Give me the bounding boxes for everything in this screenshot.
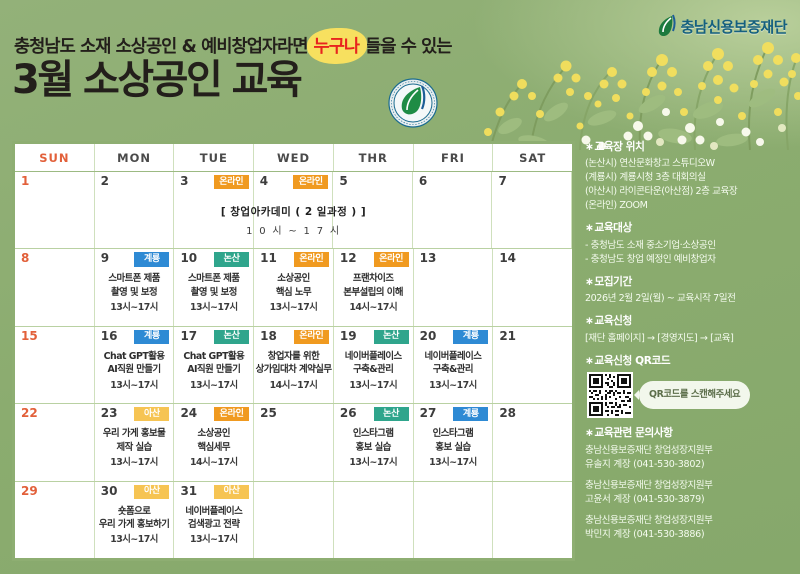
day-number: 29 xyxy=(21,484,38,498)
spanning-event-entry: [ 창업아카데미 ( 2 일과정 ) ]1 0 시 ~ 1 7 시 xyxy=(15,200,572,237)
calendar-day-26[interactable]: 26논산인스타그램홍보 실습13시~17시 xyxy=(334,404,414,480)
day-number: 22 xyxy=(21,406,38,420)
event-time: 13시~17시 xyxy=(335,456,412,469)
sidebar-section-qr: 교육신청 QR코드 xyxy=(585,354,797,418)
calendar-day-13: 13 xyxy=(414,249,494,325)
day-number: 18 xyxy=(260,329,277,343)
day-number: 7 xyxy=(498,174,506,188)
venue-badge-asan: 아산 xyxy=(134,407,169,421)
headline-line1: 충청남도 소재 소상공인 & 예비창업자라면 누구나 들을 수 있는 xyxy=(14,33,452,58)
headline-part2: 들을 수 있는 xyxy=(365,33,451,58)
qr-code-icon[interactable] xyxy=(587,372,633,418)
venue-badge-asan: 아산 xyxy=(134,485,169,499)
event-time: 13시~17시 xyxy=(175,379,252,392)
calendar-day-empty xyxy=(334,482,414,558)
location-title: 교육장 위치 xyxy=(585,140,797,155)
leaf-logo-icon xyxy=(655,14,677,38)
period-title: 모집기간 xyxy=(585,275,797,290)
day-number: 5 xyxy=(339,174,347,188)
event-entry: 인스타그램홍보 실습13시~17시 xyxy=(335,427,412,469)
apply-line: [재단 홈페이지] → [경영지도] → [교육] xyxy=(585,332,797,346)
contact-org: 충남신용보증재단 창업성장지원부 xyxy=(585,479,797,493)
venue-badge-asan: 아산 xyxy=(214,485,249,499)
calendar-day-empty xyxy=(254,482,334,558)
event-entry: 우리 가게 홍보물제작 실습13시~17시 xyxy=(96,427,173,469)
location-line: (계룡시) 계룡시청 3층 대회의실 xyxy=(585,171,797,185)
calendar-day-29: 29 xyxy=(15,482,95,558)
event-entry: 숏폼으로우리 가게 홍보하기13시~17시 xyxy=(96,505,173,547)
contact-person-phone: 유솔지 계장 (041-530-3802) xyxy=(585,458,797,472)
calendar-day-27[interactable]: 27계룡인스타그램홍보 실습13시~17시 xyxy=(414,404,494,480)
event-entry: 프랜차이즈본부설립의 이해14시~17시 xyxy=(335,272,412,314)
day-number: 24 xyxy=(180,406,197,420)
venue-badge-online: 온라인 xyxy=(294,330,329,344)
calendar-week-row: 1516계룡Chat GPT활용AI직원 만들기13시~17시17논산Chat … xyxy=(15,327,572,404)
event-entry: 네이버플레이스검색광고 전략13시~17시 xyxy=(175,505,252,547)
venue-badge-gyeryong: 계룡 xyxy=(453,407,488,421)
calendar-day-empty xyxy=(493,482,572,558)
event-time: 13시~17시 xyxy=(96,301,173,314)
day-number: 27 xyxy=(420,406,437,420)
event-time: 13시~17시 xyxy=(96,456,173,469)
event-time: 13시~17시 xyxy=(415,456,492,469)
apply-title: 교육신청 xyxy=(585,314,797,329)
venue-badge-online: 온라인 xyxy=(214,175,249,189)
calendar-day-19[interactable]: 19논산네이버플레이스구축&관리13시~17시 xyxy=(334,327,414,403)
event-time: 14시~17시 xyxy=(335,301,412,314)
day-number: 3 xyxy=(180,174,188,188)
calendar-day-20[interactable]: 20계룡네이버플레이스구축&관리13시~17시 xyxy=(414,327,494,403)
event-entry: Chat GPT활용AI직원 만들기13시~17시 xyxy=(96,350,173,392)
event-entry: 창업자를 위한상가임대차 계약실무14시~17시 xyxy=(255,350,332,392)
location-line: (논산시) 연산문화창고 스튜디오W xyxy=(585,157,797,171)
calendar-day-12[interactable]: 12온라인프랜차이즈본부설립의 이해14시~17시 xyxy=(334,249,414,325)
sidebar-section-location: 교육장 위치 (논산시) 연산문화창고 스튜디오W(계룡시) 계룡시청 3층 대… xyxy=(585,140,797,213)
period-line: 2026년 2월 2일(월) ~ 교육시작 7일전 xyxy=(585,292,797,306)
day-number: 2 xyxy=(101,174,109,188)
poster-root: 충남신용보증재단 충청남도 소재 소상공인 & 예비창업자라면 누구나 들을 수… xyxy=(0,0,800,574)
calendar-day-11[interactable]: 11온라인소상공인핵심 노무13시~17시 xyxy=(254,249,334,325)
calendar-dow-sun: SUN xyxy=(15,144,95,171)
event-time: 13시~17시 xyxy=(175,301,252,314)
venue-badge-online: 온라인 xyxy=(214,407,249,421)
calendar-dow-thr: THR xyxy=(334,144,414,171)
calendar-day-30[interactable]: 30아산숏폼으로우리 가게 홍보하기13시~17시 xyxy=(95,482,175,558)
calendar-dow-tue: TUE xyxy=(174,144,254,171)
brand-logo: 충남신용보증재단 xyxy=(655,14,787,38)
period-lines: 2026년 2월 2일(월) ~ 교육시작 7일전 xyxy=(585,292,797,306)
headline-part1: 충청남도 소재 소상공인 & 예비창업자라면 xyxy=(14,33,308,58)
headline-highlight: 누구나 xyxy=(310,33,364,58)
venue-badge-online: 온라인 xyxy=(374,252,409,266)
day-number: 1 xyxy=(21,174,29,188)
event-time: 14시~17시 xyxy=(255,379,332,392)
event-entry: 소상공인핵심세무14시~17시 xyxy=(175,427,252,469)
spanning-event-time: 1 0 시 ~ 1 7 시 xyxy=(15,222,572,237)
day-number: 20 xyxy=(420,329,437,343)
day-number: 13 xyxy=(420,251,437,265)
day-number: 10 xyxy=(180,251,197,265)
location-line: (온라인) ZOOM xyxy=(585,199,797,213)
venue-badge-gyeryong: 계룡 xyxy=(453,330,488,344)
event-entry: 네이버플레이스구축&관리13시~17시 xyxy=(335,350,412,392)
contact-groups: 충남신용보증재단 창업성장지원부유솔지 계장 (041-530-3802)충남신… xyxy=(585,444,797,542)
location-lines: (논산시) 연산문화창고 스튜디오W(계룡시) 계룡시청 3층 대회의실(아산시… xyxy=(585,157,797,213)
day-number: 30 xyxy=(101,484,118,498)
calendar-day-18[interactable]: 18온라인창업자를 위한상가임대차 계약실무14시~17시 xyxy=(254,327,334,403)
qr-row: QR코드를 스캔해주세요 xyxy=(587,372,797,418)
contact-entry: 충남신용보증재단 창업성장지원부고윤서 계장 (041-530-3879) xyxy=(585,479,797,507)
day-number: 31 xyxy=(180,484,197,498)
venue-badge-nonsan: 논산 xyxy=(374,407,409,421)
event-time: 13시~17시 xyxy=(175,533,252,546)
calendar-dow-fri: FRI xyxy=(414,144,494,171)
poster-header: 충남신용보증재단 충청남도 소재 소상공인 & 예비창업자라면 누구나 들을 수… xyxy=(0,0,800,140)
calendar-week-row: 123온라인4온라인567[ 창업아카데미 ( 2 일과정 ) ]1 0 시 ~… xyxy=(15,172,572,249)
qr-title: 교육신청 QR코드 xyxy=(585,354,797,369)
education-calendar: SUNMONTUEWEDTHRFRISAT 123온라인4온라인567[ 창업아… xyxy=(12,141,575,561)
calendar-dow-sat: SAT xyxy=(493,144,572,171)
day-number: 19 xyxy=(340,329,357,343)
event-entry: 인스타그램홍보 실습13시~17시 xyxy=(415,427,492,469)
qr-bubble-label: QR코드를 스캔해주세요 xyxy=(639,381,750,409)
apply-lines: [재단 홈페이지] → [경영지도] → [교육] xyxy=(585,332,797,346)
venue-badge-nonsan: 논산 xyxy=(214,252,249,266)
target-line: - 충청남도 소재 중소기업·소상공인 xyxy=(585,239,797,253)
contact-person-phone: 고윤서 계장 (041-530-3879) xyxy=(585,493,797,507)
sidebar-section-target: 교육대상 - 충청남도 소재 중소기업·소상공인- 충청남도 창업 예정인 예비… xyxy=(585,221,797,266)
contact-org: 충남신용보증재단 창업성장지원부 xyxy=(585,444,797,458)
target-lines: - 충청남도 소재 중소기업·소상공인- 충청남도 창업 예정인 예비창업자 xyxy=(585,239,797,267)
brand-name: 충남신용보증재단 xyxy=(681,16,787,37)
day-number: 23 xyxy=(101,406,118,420)
event-time: 13시~17시 xyxy=(255,301,332,314)
calendar-day-17[interactable]: 17논산Chat GPT활용AI직원 만들기13시~17시 xyxy=(174,327,254,403)
calendar-day-8: 8 xyxy=(15,249,95,325)
target-line: - 충청남도 창업 예정인 예비창업자 xyxy=(585,253,797,267)
event-entry: 네이버플레이스구축&관리13시~17시 xyxy=(415,350,492,392)
calendar-day-14: 14 xyxy=(493,249,572,325)
day-number: 12 xyxy=(340,251,357,265)
calendar-header-row: SUNMONTUEWEDTHRFRISAT xyxy=(15,144,572,172)
day-number: 17 xyxy=(180,329,197,343)
day-number: 25 xyxy=(260,406,277,420)
calendar-week-row: 89계룡스마트폰 제품촬영 및 보정13시~17시10논산스마트폰 제품촬영 및… xyxy=(15,249,572,326)
calendar-dow-mon: MON xyxy=(95,144,175,171)
event-entry: 스마트폰 제품촬영 및 보정13시~17시 xyxy=(175,272,252,314)
day-number: 16 xyxy=(101,329,118,343)
calendar-day-21: 21 xyxy=(493,327,572,403)
contact-entry: 충남신용보증재단 창업성장지원부유솔지 계장 (041-530-3802) xyxy=(585,444,797,472)
foundation-seal-icon xyxy=(388,78,438,128)
target-title: 교육대상 xyxy=(585,221,797,236)
contact-org: 충남신용보증재단 창업성장지원부 xyxy=(585,514,797,528)
day-number: 26 xyxy=(340,406,357,420)
calendar-dow-wed: WED xyxy=(254,144,334,171)
event-time: 13시~17시 xyxy=(96,379,173,392)
sidebar-section-period: 모집기간 2026년 2월 2일(월) ~ 교육시작 7일전 xyxy=(585,275,797,306)
location-line: (아산시) 라이콘타운(아산점) 2층 교육장 xyxy=(585,185,797,199)
venue-badge-nonsan: 논산 xyxy=(374,330,409,344)
event-entry: 소상공인핵심 노무13시~17시 xyxy=(255,272,332,314)
contact-entry: 충남신용보증재단 창업성장지원부박민지 계장 (041-530-3886) xyxy=(585,514,797,542)
calendar-week-row: 2223아산우리 가게 홍보물제작 실습13시~17시24온라인소상공인핵심세무… xyxy=(15,404,572,481)
day-number: 11 xyxy=(260,251,277,265)
day-number: 21 xyxy=(499,329,516,343)
calendar-day-22: 22 xyxy=(15,404,95,480)
calendar-day-28: 28 xyxy=(493,404,572,480)
venue-badge-gyeryong: 계룡 xyxy=(134,252,169,266)
calendar-body: 123온라인4온라인567[ 창업아카데미 ( 2 일과정 ) ]1 0 시 ~… xyxy=(15,172,572,558)
headline-line2: 3월 소상공인 교육 xyxy=(12,60,300,100)
calendar-day-15: 15 xyxy=(15,327,95,403)
info-sidebar: 교육장 위치 (논산시) 연산문화창고 스튜디오W(계룡시) 계룡시청 3층 대… xyxy=(585,140,797,570)
venue-badge-gyeryong: 계룡 xyxy=(134,330,169,344)
day-number: 15 xyxy=(21,329,38,343)
calendar-day-9[interactable]: 9계룡스마트폰 제품촬영 및 보정13시~17시 xyxy=(95,249,175,325)
event-time: 14시~17시 xyxy=(175,456,252,469)
contact-title: 교육관련 문의사항 xyxy=(585,426,797,441)
calendar-day-23[interactable]: 23아산우리 가게 홍보물제작 실습13시~17시 xyxy=(95,404,175,480)
day-number: 6 xyxy=(419,174,427,188)
venue-badge-online: 온라인 xyxy=(294,252,329,266)
calendar-day-10[interactable]: 10논산스마트폰 제품촬영 및 보정13시~17시 xyxy=(174,249,254,325)
day-number: 9 xyxy=(101,251,109,265)
calendar-week-row: 2930아산숏폼으로우리 가게 홍보하기13시~17시31아산네이버플레이스검색… xyxy=(15,482,572,558)
day-number: 14 xyxy=(499,251,516,265)
event-entry: Chat GPT활용AI직원 만들기13시~17시 xyxy=(175,350,252,392)
contact-person-phone: 박민지 계장 (041-530-3886) xyxy=(585,528,797,542)
day-number: 4 xyxy=(260,174,268,188)
event-time: 13시~17시 xyxy=(415,379,492,392)
calendar-day-25: 25 xyxy=(254,404,334,480)
event-entry: 스마트폰 제품촬영 및 보정13시~17시 xyxy=(96,272,173,314)
calendar-day-31[interactable]: 31아산네이버플레이스검색광고 전략13시~17시 xyxy=(174,482,254,558)
spanning-event-title: [ 창업아카데미 ( 2 일과정 ) ] xyxy=(221,206,366,218)
sidebar-section-apply: 교육신청 [재단 홈페이지] → [경영지도] → [교육] xyxy=(585,314,797,345)
calendar-day-empty xyxy=(414,482,494,558)
venue-badge-nonsan: 논산 xyxy=(214,330,249,344)
sidebar-section-contact: 교육관련 문의사항 충남신용보증재단 창업성장지원부유솔지 계장 (041-53… xyxy=(585,426,797,541)
day-number: 28 xyxy=(499,406,516,420)
event-time: 13시~17시 xyxy=(335,379,412,392)
day-number: 8 xyxy=(21,251,29,265)
venue-badge-online: 온라인 xyxy=(293,175,328,189)
calendar-day-16[interactable]: 16계룡Chat GPT활용AI직원 만들기13시~17시 xyxy=(95,327,175,403)
calendar-day-24[interactable]: 24온라인소상공인핵심세무14시~17시 xyxy=(174,404,254,480)
event-time: 13시~17시 xyxy=(96,533,173,546)
